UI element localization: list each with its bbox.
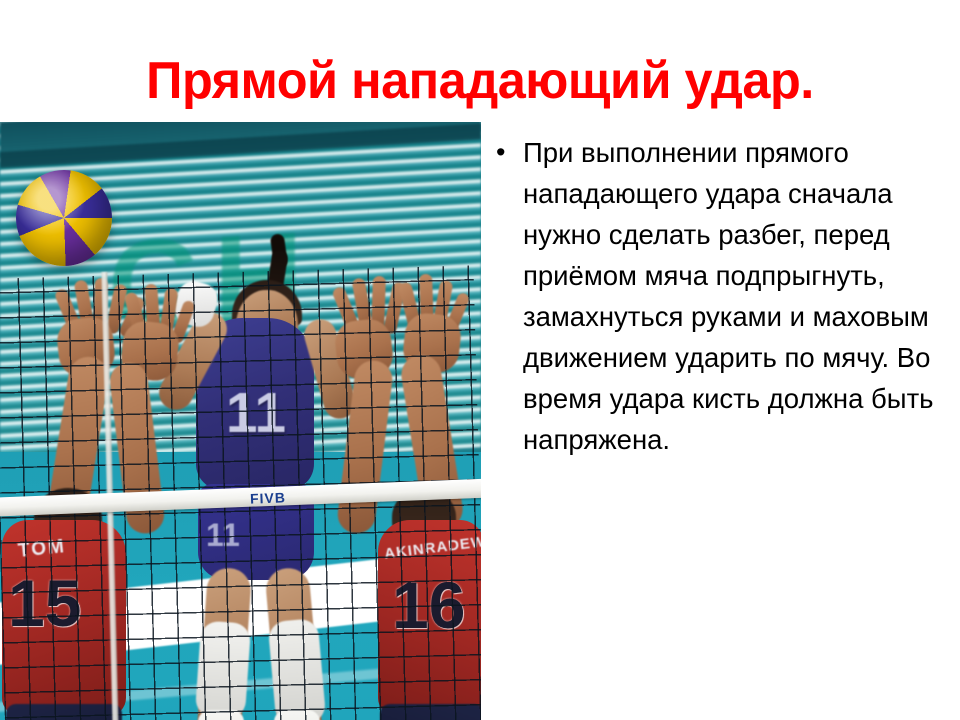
volleyball-photo: CH M 11 11	[0, 122, 481, 720]
presentation-slide: Прямой нападающий удар. CH M 11 11	[0, 0, 960, 720]
net-band-fivb-logo: FIVB	[250, 489, 286, 506]
bullet-item: • При выполнении прямого нападающего уда…	[493, 132, 945, 460]
bullet-point-icon: •	[493, 132, 523, 173]
slide-body: • При выполнении прямого нападающего уда…	[493, 132, 945, 460]
slide-title: Прямой нападающий удар.	[14, 52, 945, 110]
bullet-text: При выполнении прямого нападающего удара…	[523, 132, 945, 460]
volleyball-ball-icon	[16, 170, 112, 266]
